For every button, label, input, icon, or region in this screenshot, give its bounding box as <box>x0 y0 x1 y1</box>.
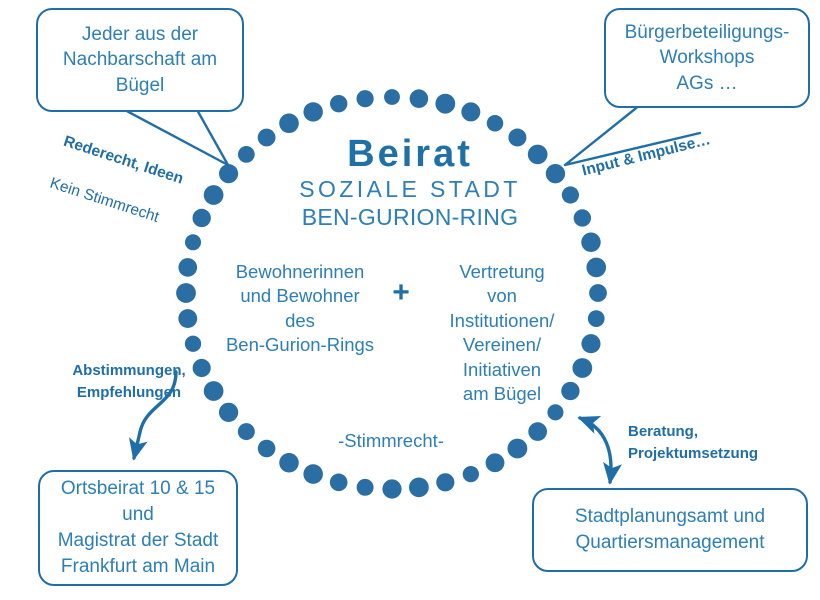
speech-bubble-workshops-text: Bürgerbeteiligungs- Workshops AGs … <box>625 20 790 95</box>
ring-dot <box>435 94 455 114</box>
double-headed-curved-arrow-icon <box>580 418 611 482</box>
ring-dot <box>463 466 479 482</box>
box-stadtplanungsamt-quartiersmanagement-text: Stadtplanungsamt und Quartiersmanagement <box>575 504 765 556</box>
ring-dot <box>410 89 429 108</box>
ring-dot <box>357 479 374 496</box>
members-column-institutions: Vertretung von Institutionen/ Vereinen/ … <box>418 260 586 406</box>
ring-dot <box>384 89 400 105</box>
ring-dot <box>258 440 276 458</box>
ring-dot <box>330 474 348 492</box>
box-ortsbeirat-magistrat[interactable]: Ortsbeirat 10 & 15 und Magistrat der Sta… <box>38 470 238 586</box>
ring-dot <box>436 473 454 491</box>
connector-label-beratung-bold: Beratung, Projektumsetzung <box>628 421 814 464</box>
ring-dot <box>461 102 480 121</box>
page-title: Beirat <box>0 132 820 177</box>
connector-label-abstimmungen: Abstimmungen, Empfehlungen <box>44 360 214 404</box>
ring-dot <box>219 403 238 422</box>
ring-dot <box>547 404 563 420</box>
ring-dot <box>528 422 547 441</box>
ring-dot <box>581 233 600 252</box>
ring-dot <box>382 479 401 498</box>
ring-dot <box>176 283 196 303</box>
ring-dot <box>508 439 528 459</box>
ring-dot <box>357 90 374 107</box>
ring-dot <box>486 453 505 472</box>
ring-dot <box>487 115 504 132</box>
ring-dot <box>238 423 255 440</box>
members-column-residents: Bewohnerinnen und Bewohner des Ben-Gurio… <box>206 260 394 358</box>
ring-dot <box>279 113 299 133</box>
ring-dot <box>589 284 607 302</box>
ring-dot <box>185 336 201 352</box>
ring-dot <box>303 102 322 121</box>
box-ortsbeirat-magistrat-text: Ortsbeirat 10 & 15 und Magistrat der Sta… <box>58 476 219 579</box>
plus-icon: + <box>388 278 414 308</box>
ring-dot <box>178 309 197 328</box>
ring-dot <box>330 95 347 112</box>
page-subtitle-ben-gurion-ring: BEN-GURION-RING <box>0 204 820 231</box>
speech-bubble-neighbourhood[interactable]: Jeder aus der Nachbarschaft am Bügel <box>36 8 244 112</box>
page-subtitle-soziale-stadt: SOZIALE STADT <box>0 176 820 203</box>
speech-bubble-neighbourhood-text: Jeder aus der Nachbarschaft am Bügel <box>63 22 217 97</box>
ring-dot <box>588 310 605 327</box>
ring-dot <box>178 258 197 277</box>
ring-dot <box>586 258 606 278</box>
box-stadtplanungsamt-quartiersmanagement[interactable]: Stadtplanungsamt und Quartiersmanagement <box>532 488 808 572</box>
ring-dot <box>303 464 323 484</box>
diagram-canvas: Jeder aus der Nachbarschaft am Bügel Bür… <box>0 0 820 600</box>
ring-dot <box>279 453 299 473</box>
speech-bubble-workshops[interactable]: Bürgerbeteiligungs- Workshops AGs … <box>604 8 810 108</box>
voting-rights-note: -Stimmrecht- <box>276 430 506 452</box>
ring-dot <box>409 477 429 497</box>
